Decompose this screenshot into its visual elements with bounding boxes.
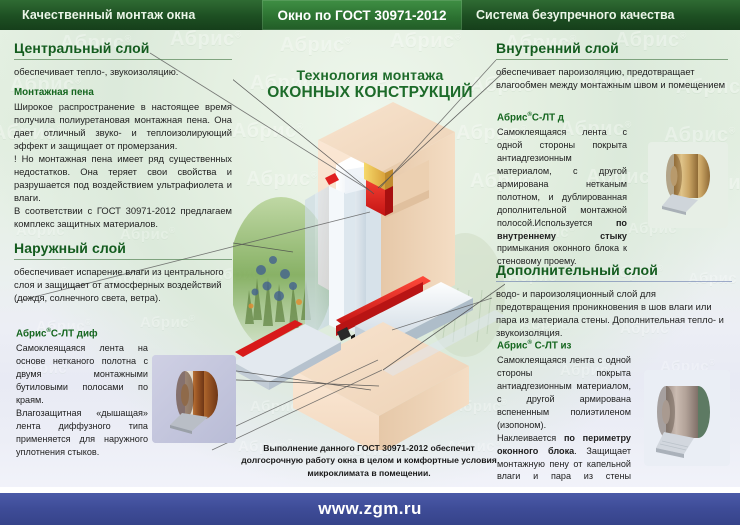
outer-layer-title: Наружный слой (14, 240, 232, 258)
header-left-title: Качественный монтаж окна (0, 8, 262, 22)
product-slt-d-brand: Абрис (497, 112, 527, 123)
outer-layer-rule (14, 259, 232, 260)
product-slt-dif-body-2: Влагозащитная «дышащая» лента диффузного… (16, 407, 148, 459)
block-central-layer: Центральный слой обеспечивает тепло-, зв… (14, 40, 232, 231)
central-layer-warning: ! Но монтажная пена имеет ряд существенн… (14, 153, 232, 205)
registered-mark-icon: ® (527, 340, 531, 346)
block-inner-layer: Внутренний слой обеспечивает пароизоляци… (496, 40, 728, 92)
center-title: Технология монтажа ОКОННЫХ КОНСТРУКЦИЙ (246, 68, 494, 101)
photo-beige-tape-roll (648, 142, 728, 228)
product-slt-iz-suffix: С-ЛТ из (535, 340, 572, 351)
product-slt-iz-body-2a: Наклеивается (497, 433, 564, 443)
poster-header: Качественный монтаж окна Окно по ГОСТ 30… (0, 0, 740, 30)
product-slt-d-body-1: Самоклеящаяся лента с одной стороны покр… (497, 127, 627, 227)
central-layer-title: Центральный слой (14, 40, 232, 58)
product-slt-dif-suffix: С-ЛТ диф (51, 328, 98, 339)
product-slt-iz-brand: Абрис (497, 340, 527, 351)
central-layer-sub-body: Широкое распространение в настоящее врем… (14, 101, 232, 153)
block-product-slt-d: Абрис®С-ЛТ д Самоклеящаяся лента с одной… (497, 112, 627, 268)
product-slt-iz-body-2: Наклеивается по периметру оконного блока… (497, 432, 631, 493)
header-gost-badge: Окно по ГОСТ 30971-2012 (262, 0, 462, 30)
central-layer-rule (14, 59, 232, 60)
inner-layer-body: обеспечивает пароизоляцию, предотвращает… (496, 66, 728, 92)
website-url[interactable]: www.zgm.ru (318, 499, 422, 519)
window-assembly-illustration (233, 70, 505, 450)
header-right-title: Система безупречного качества (462, 8, 740, 22)
product-slt-dif-body-1: Самоклеящаяся лента на основе нетканого … (16, 342, 148, 407)
product-slt-iz-body-1: Самоклеящаяся лента с одной стороны покр… (497, 354, 631, 431)
extra-layer-body: водо- и пароизоляционный слой для предот… (496, 288, 732, 340)
center-title-line2: ОКОННЫХ КОНСТРУКЦИЙ (246, 84, 494, 101)
product-slt-dif-name: Абрис®С-ЛТ диф (16, 328, 148, 339)
product-slt-d-suffix: С-ЛТ д (532, 112, 564, 123)
center-caption: Выполнение данного ГОСТ 30971-2012 обесп… (233, 442, 505, 479)
product-slt-dif-brand: Абрис (16, 328, 46, 339)
extra-layer-rule (496, 281, 732, 282)
block-product-slt-iz: Абрис® С-ЛТ из Самоклеящаяся лента с одн… (497, 340, 631, 493)
poster-body: Абрис® Абрис® Абрис® Абрис® Абрис® Абрис… (0, 30, 740, 493)
product-slt-iz-name: Абрис® С-ЛТ из (497, 340, 631, 351)
block-product-slt-dif: Абрис®С-ЛТ диф Самоклеящаяся лента на ос… (16, 328, 148, 458)
product-slt-d-name: Абрис®С-ЛТ д (497, 112, 627, 123)
photo-brown-tape-roll (152, 355, 236, 443)
central-layer-conclusion: В соответствии с ГОСТ 30971-2012 предлаг… (14, 205, 232, 231)
photo-isopon-tape-roll (644, 370, 730, 466)
central-layer-subtitle: Монтажная пена (14, 87, 232, 98)
central-layer-body: обеспечивает тепло-, звукоизоляцию. (14, 66, 232, 79)
extra-layer-title: Дополнительный слой (496, 262, 732, 280)
product-slt-d-body: Самоклеящаяся лента с одной стороны покр… (497, 126, 627, 268)
inner-layer-rule (496, 59, 728, 60)
block-extra-layer: Дополнительный слой водо- и пароизоляцио… (496, 262, 732, 340)
outer-layer-body: обеспечивает испарение влаги из централь… (14, 266, 232, 305)
poster-root: Качественный монтаж окна Окно по ГОСТ 30… (0, 0, 740, 525)
center-title-line1: Технология монтажа (246, 68, 494, 84)
inner-layer-title: Внутренний слой (496, 40, 728, 58)
poster-footer: www.zgm.ru (0, 493, 740, 525)
block-outer-layer: Наружный слой обеспечивает испарение вла… (14, 240, 232, 305)
